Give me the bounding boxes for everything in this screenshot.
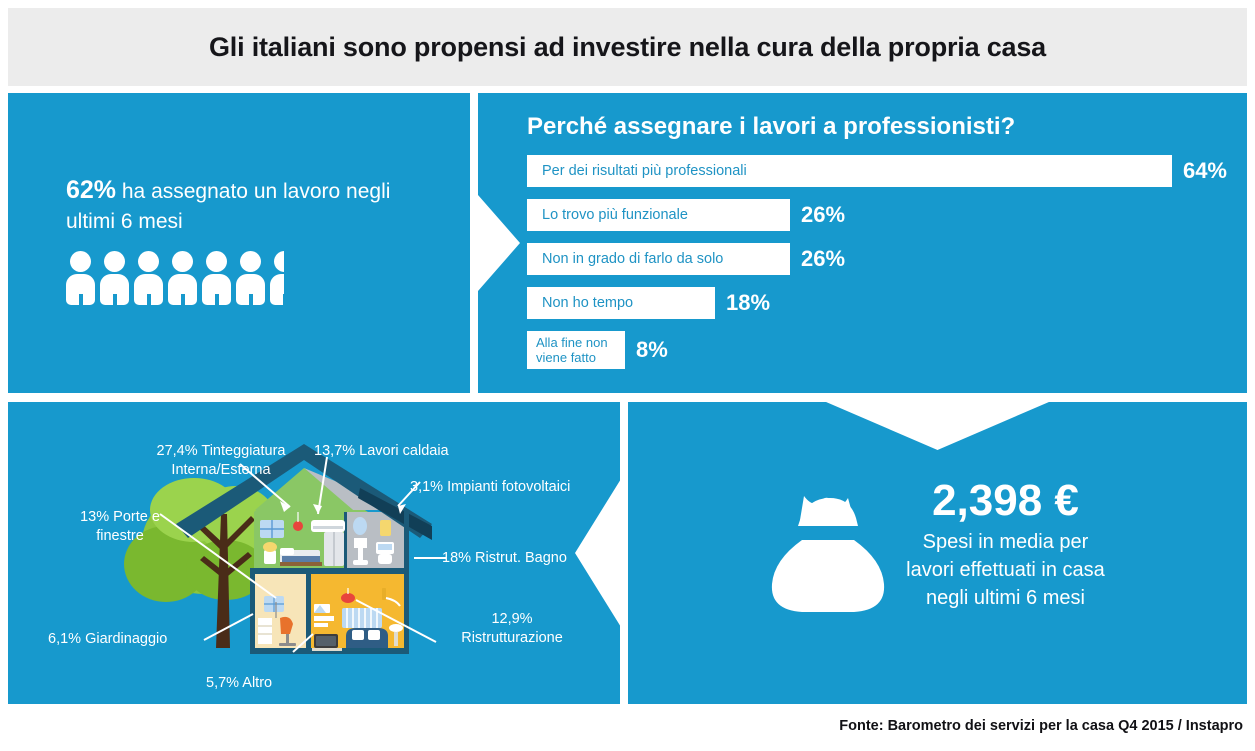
label-altro: 5,7% Altro — [206, 674, 336, 693]
assigned-percent: 62% — [66, 176, 116, 204]
person-head — [70, 251, 91, 272]
bar-fill: Alla fine non viene fatto — [527, 331, 625, 369]
bar-label: Per dei risultati più professionali — [542, 163, 747, 179]
mirror-icon — [353, 517, 367, 535]
label-ristrutturazione: 12,9% Ristrutturazione — [432, 610, 592, 648]
person-leg-gap — [113, 294, 117, 305]
floor-lamp-icon — [394, 632, 398, 646]
table-lamp-icon — [263, 542, 277, 552]
bar-value: 26% — [801, 202, 845, 228]
panel-average-spend: 2,398 € Spesi in media per lavori effett… — [628, 402, 1247, 704]
money-amount: 2,398 € — [906, 474, 1105, 528]
person-head — [138, 251, 159, 272]
money-caption: Spesi in media per lavori effettuati in … — [906, 528, 1105, 612]
bar-value: 64% — [1183, 158, 1227, 184]
infographic-root: Gli italiani sono propensi ad investire … — [0, 0, 1255, 751]
bar-label: Non ho tempo — [542, 295, 633, 311]
bar-row: Alla fine non viene fatto 8% — [527, 331, 1227, 369]
panel-assigned-jobs: 62% ha assegnato un lavoro negli ultimi … — [8, 93, 470, 393]
label-porte-finestre: 13% Porte e finestre — [60, 508, 180, 546]
lamp-icon — [293, 521, 303, 531]
people-pictogram — [66, 251, 284, 307]
bar-value: 26% — [801, 246, 845, 272]
person-icon — [236, 251, 265, 305]
bar-fill: Non ho tempo — [527, 287, 715, 319]
person-icon — [168, 251, 197, 305]
bar-label: Lo trovo più funzionale — [542, 207, 688, 223]
person-head — [240, 251, 261, 272]
money-content: 2,398 € Spesi in media per lavori effett… — [628, 474, 1247, 614]
bar-value: 8% — [636, 337, 668, 363]
bar-label: Non in grado di farlo da solo — [542, 251, 723, 267]
bar-label: Alla fine non viene fatto — [536, 335, 608, 365]
towel-icon — [380, 520, 391, 536]
label-giardinaggio: 6,1% Giardinaggio — [48, 630, 208, 649]
bar-row: Lo trovo più funzionale 26% — [527, 199, 1227, 231]
bar-fill: Non in grado di farlo da solo — [527, 243, 790, 275]
label-tinteggiatura: 27,4% Tinteggiatura Interna/Esterna — [126, 442, 316, 480]
label-caldaia: 13,7% Lavori caldaia — [314, 442, 494, 461]
bar-fill: Lo trovo più funzionale — [527, 199, 790, 231]
label-fotovoltaici: 3,1% Impianti fotovoltaici — [410, 478, 610, 497]
person-icon — [66, 251, 95, 305]
person-leg-gap — [283, 294, 285, 305]
bar-fill: Per dei risultati più professionali — [527, 155, 1172, 187]
person-leg-gap — [147, 294, 151, 305]
bar-row: Per dei risultati più professionali 64% — [527, 155, 1227, 187]
person-leg-gap — [249, 294, 253, 305]
person-leg-gap — [215, 294, 219, 305]
source-footer: Fonte: Barometro dei servizi per la casa… — [0, 718, 1243, 734]
money-bag-icon — [770, 490, 888, 614]
reasons-title: Perché assegnare i lavori a professionis… — [527, 113, 1015, 141]
assigned-statement: 62% ha assegnato un lavoro negli ultimi … — [66, 175, 436, 237]
panel-house-breakdown: 27,4% Tinteggiatura Interna/Esterna 13,7… — [8, 402, 620, 704]
person-leg-gap — [181, 294, 185, 305]
person-icon — [100, 251, 129, 305]
bar-row: Non ho tempo 18% — [527, 287, 1227, 319]
panel-reasons-chart: Perché assegnare i lavori a professionis… — [478, 93, 1247, 393]
pendant-lamp-icon — [341, 593, 355, 603]
shelf-icon — [258, 618, 272, 644]
person-icon — [202, 251, 231, 305]
bar-value: 18% — [726, 290, 770, 316]
person-head — [104, 251, 125, 272]
bar-chart: Per dei risultati più professionali 64% … — [527, 155, 1227, 381]
header-banner: Gli italiani sono propensi ad investire … — [8, 8, 1247, 86]
person-icon — [134, 251, 163, 305]
label-bagno: 18% Ristrut. Bagno — [442, 549, 612, 568]
person-head — [206, 251, 227, 272]
money-text-block: 2,398 € Spesi in media per lavori effett… — [906, 474, 1105, 612]
bar-row: Non in grado di farlo da solo 26% — [527, 243, 1227, 275]
page-title: Gli italiani sono propensi ad investire … — [209, 32, 1046, 63]
sink-icon — [354, 538, 367, 548]
person-head — [172, 251, 193, 272]
person-head — [274, 251, 284, 272]
person-icon-partial — [270, 251, 284, 305]
person-leg-gap — [79, 294, 83, 305]
